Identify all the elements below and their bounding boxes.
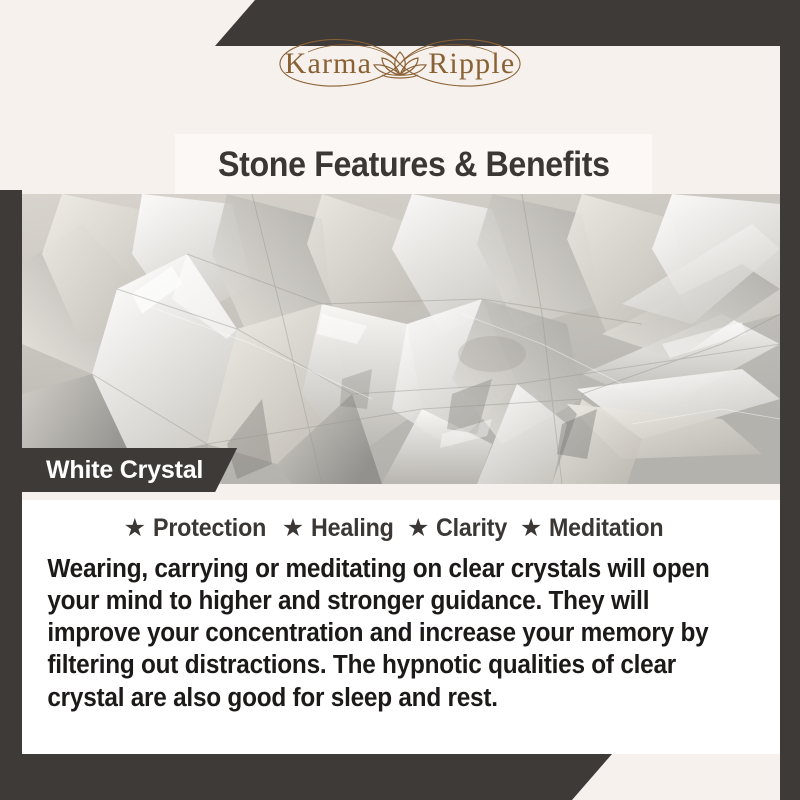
stone-photo [22, 194, 780, 484]
stone-name-banner: White Crystal [22, 448, 237, 492]
brand-name: Karma Ripple [250, 28, 550, 100]
stone-name-label: White Crystal [46, 456, 203, 485]
brand-logo: Karma Ripple [250, 28, 550, 100]
white-crystal-cluster-icon [22, 194, 780, 484]
star-icon: ★ [407, 516, 429, 541]
border-decoration-left [0, 190, 22, 754]
stone-description: Wearing, carrying or meditating on clear… [34, 553, 729, 714]
feature-item-protection: ★ Protection [124, 514, 275, 543]
feature-label: Protection [153, 514, 266, 543]
feature-list: ★ Protection ★ Healing ★ Clarity ★ Medit… [34, 514, 762, 543]
star-icon: ★ [124, 516, 146, 541]
feature-item-clarity: ★ Clarity [407, 514, 513, 543]
page-title: Stone Features & Benefits [218, 145, 610, 185]
feature-label: Healing [311, 514, 394, 543]
feature-item-meditation: ★ Meditation [520, 514, 672, 543]
feature-label: Meditation [549, 514, 663, 543]
title-band: Stone Features & Benefits [175, 134, 652, 196]
brand-name-right: Ripple [428, 47, 515, 81]
brand-name-left: Karma [285, 47, 373, 81]
border-decoration-right [780, 46, 800, 800]
star-icon: ★ [282, 516, 304, 541]
corner-decoration-bottom-left [0, 754, 612, 800]
content-panel: ★ Protection ★ Healing ★ Clarity ★ Medit… [22, 500, 780, 754]
brand-header: Karma Ripple [0, 0, 800, 128]
feature-label: Clarity [436, 514, 507, 543]
stone-info-card: Karma Ripple Stone Features & Benefits [0, 0, 800, 800]
star-icon: ★ [520, 516, 542, 541]
feature-item-healing: ★ Healing [282, 514, 400, 543]
